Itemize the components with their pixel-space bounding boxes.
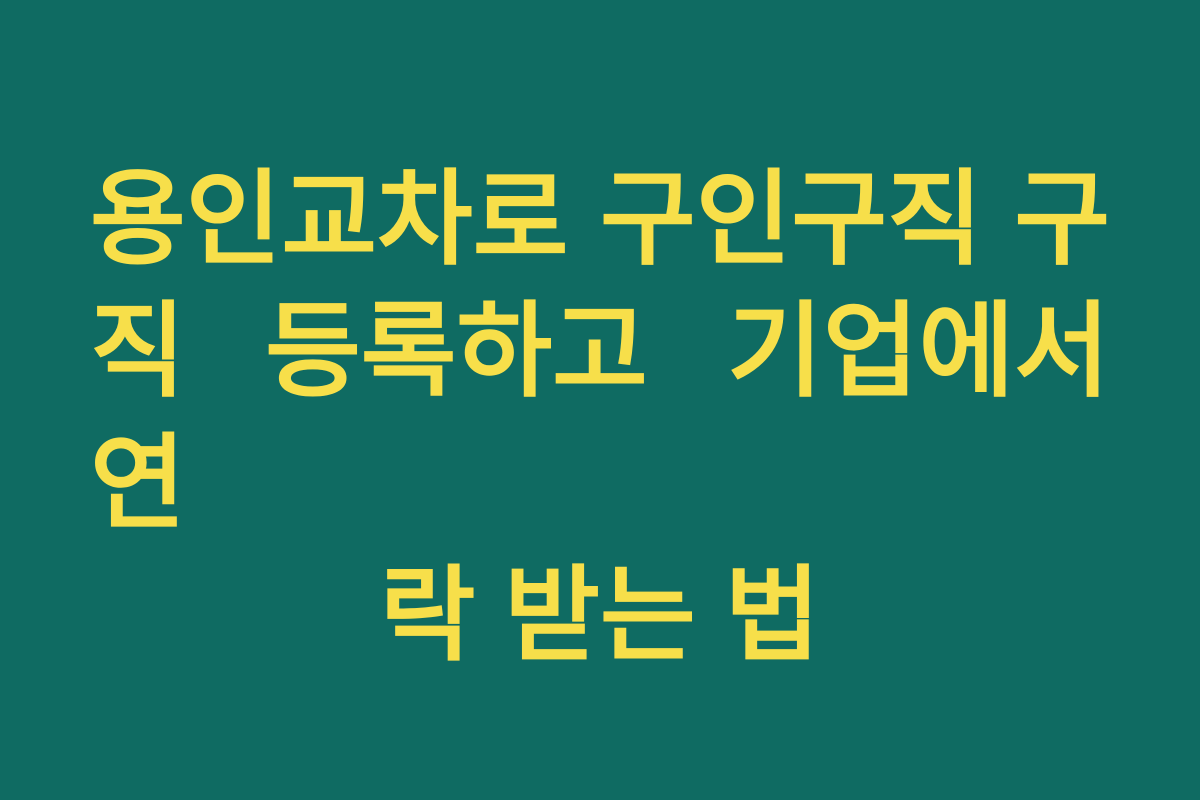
banner-canvas: 용인교차로 구인구직 구 직 등록하고 기업에서 연 락 받는 법: [0, 0, 1200, 800]
page-title: 용인교차로 구인구직 구 직 등록하고 기업에서 연 락 받는 법: [90, 154, 1110, 682]
title-line-3: 락 받는 법: [90, 550, 1110, 682]
title-line-2: 직 등록하고 기업에서 연: [90, 286, 1110, 550]
title-line-1: 용인교차로 구인구직 구: [90, 154, 1110, 286]
